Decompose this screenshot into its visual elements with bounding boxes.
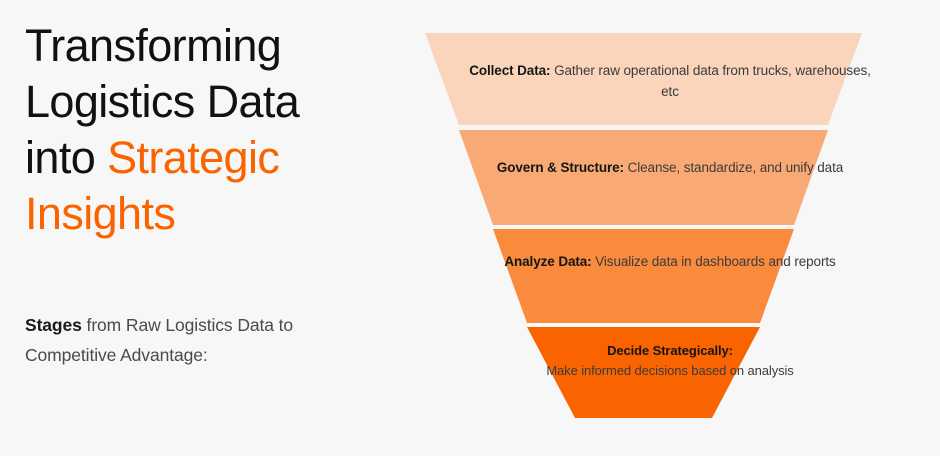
funnel-label-decide-strategically: Decide Strategically:Make informed decis… [530, 341, 810, 380]
stage-desc-analyze-data: Visualize data in dashboards and reports [592, 254, 836, 269]
stage-label-analyze-data: Analyze Data: [504, 254, 591, 269]
stage-label-collect-data: Collect Data: [469, 63, 550, 78]
headline-line-1: Transforming [25, 20, 281, 71]
headline-line-3-accent: Strategic [107, 132, 279, 183]
subtitle: Stages from Raw Logistics Data to Compet… [25, 310, 355, 370]
headline-line-4-accent: Insights [25, 188, 175, 239]
headline-block: TransformingLogistics Datainto Strategic… [25, 18, 395, 242]
headline-line-3-plain: into [25, 132, 107, 183]
stage-desc-decide-strategically: Make informed decisions based on analysi… [546, 363, 793, 378]
stage-desc-govern-structure: Cleanse, standardize, and unify data [624, 160, 843, 175]
funnel-label-govern-structure: Govern & Structure: Cleanse, standardize… [480, 157, 860, 178]
funnel-label-collect-data: Collect Data: Gather raw operational dat… [460, 60, 880, 102]
funnel-segment-analyze-data [493, 229, 794, 323]
funnel-label-analyze-data: Analyze Data: Visualize data in dashboar… [500, 251, 840, 272]
stage-desc-collect-data: Gather raw operational data from trucks,… [550, 63, 870, 99]
page-title: TransformingLogistics Datainto Strategic… [25, 18, 375, 242]
subtitle-strong: Stages [25, 315, 82, 335]
stage-label-govern-structure: Govern & Structure: [497, 160, 624, 175]
infographic-canvas: TransformingLogistics Datainto Strategic… [0, 0, 940, 456]
headline-line-2: Logistics Data [25, 76, 299, 127]
stage-label-decide-strategically: Decide Strategically: [607, 343, 733, 358]
funnel-diagram: Collect Data: Gather raw operational dat… [400, 0, 940, 456]
